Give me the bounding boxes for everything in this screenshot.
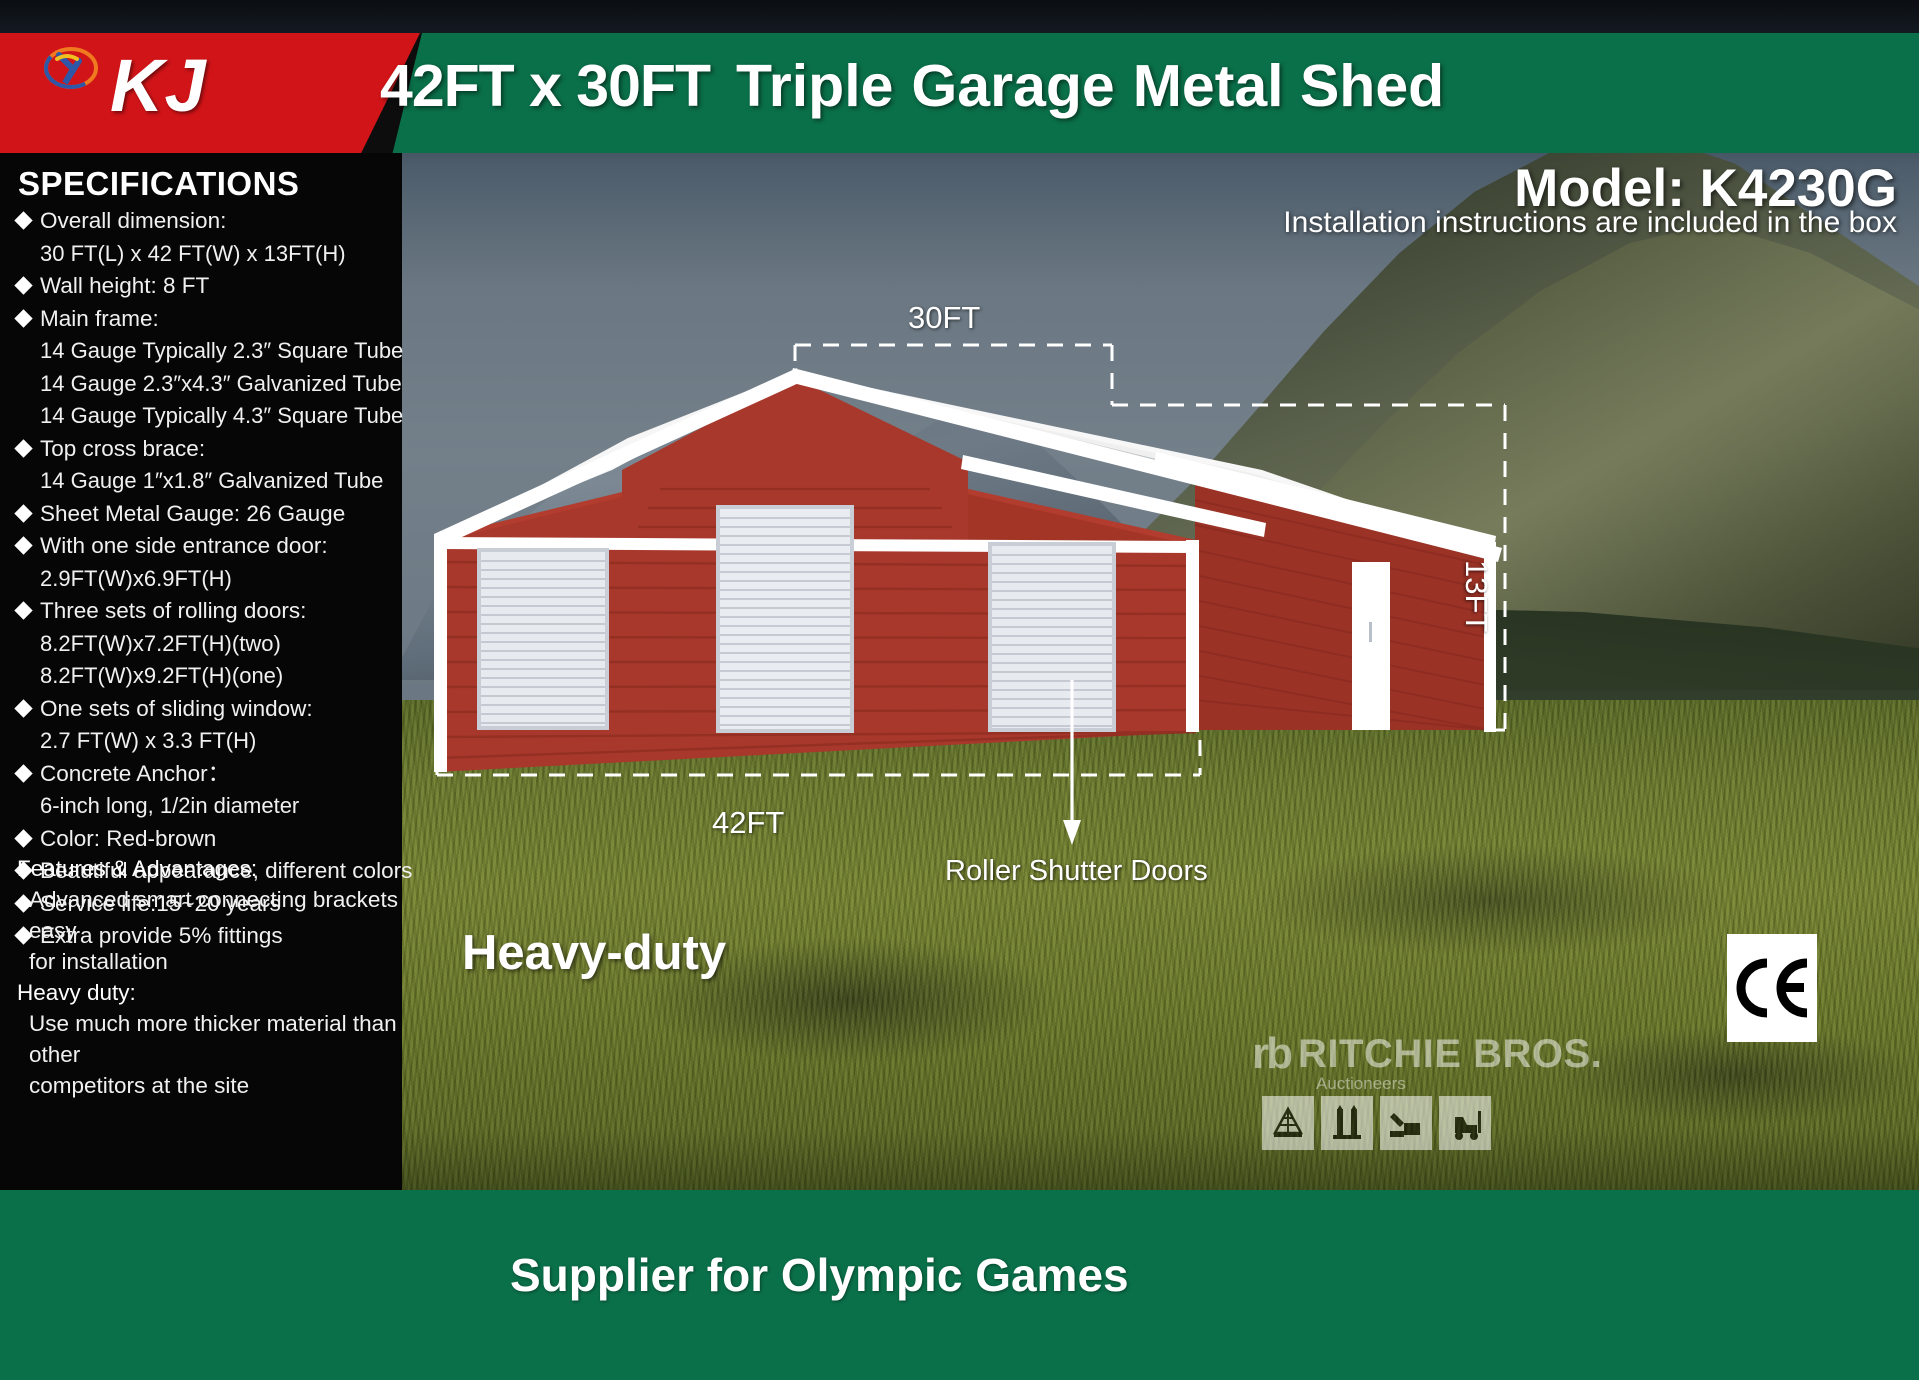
side-entrance-door: [1352, 562, 1390, 730]
diamond-bullet-icon: [14, 699, 32, 717]
spec-item-label: 14 Gauge 1″x1.8″ Galvanized Tube: [40, 465, 383, 498]
spec-item-label: 14 Gauge Typically 2.3″ Square Tube: [40, 335, 403, 368]
spec-item-label: 8.2FT(W)x9.2FT(H)(one): [40, 660, 283, 693]
spec-item-label: Overall dimension:: [40, 205, 226, 238]
spec-item: Main frame:: [0, 303, 402, 336]
watermark-icon-row: [1262, 1096, 1602, 1150]
tower-icon: [1321, 1096, 1373, 1150]
specifications-heading: SPECIFICATIONS: [18, 165, 299, 203]
header-product-word-3: Metal Shed: [1133, 53, 1444, 119]
roller-doors-callout: Roller Shutter Doors: [945, 855, 1208, 888]
spec-item: Sheet Metal Gauge: 26 Gauge: [0, 498, 402, 531]
heavy-duty-body-line-2: competitors at the site: [17, 1070, 402, 1101]
spec-item-label: Top cross brace:: [40, 433, 205, 466]
rolling-door-center: [716, 505, 854, 733]
spec-item: 2.7 FT(W) x 3.3 FT(H): [0, 725, 402, 758]
spec-item: Color: Red-brown: [0, 823, 402, 856]
excavator-icon: [1380, 1096, 1432, 1150]
product-poster: KJ 42FT x 30FTTripleGarageMetal Shed Mod…: [0, 0, 1919, 1380]
watermark-initials: rb: [1252, 1034, 1290, 1074]
spec-item: With one side entrance door:: [0, 530, 402, 563]
heavy-duty-heading: Heavy duty:: [17, 977, 402, 1008]
spec-item-label: One sets of sliding window:: [40, 693, 313, 726]
ritchie-bros-watermark: rb RITCHIE BROS. Auctioneers: [1252, 1030, 1602, 1150]
installation-note: Installation instructions are included i…: [1283, 206, 1897, 240]
spec-item-label: 14 Gauge 2.3″x4.3″ Galvanized Tube: [40, 368, 402, 401]
features-body-line-2: for installation: [17, 946, 402, 977]
forklift-icon: [1439, 1096, 1491, 1150]
spec-item-label: 8.2FT(W)x7.2FT(H)(two): [40, 628, 281, 661]
diamond-bullet-icon: [14, 439, 32, 457]
spec-item-label: 2.9FT(W)x6.9FT(H): [40, 563, 232, 596]
features-block: Features & Advantages: Advanced smart co…: [17, 853, 402, 1101]
rolling-door-left: [477, 548, 609, 730]
specifications-panel: SPECIFICATIONS Overall dimension:30 FT(L…: [0, 153, 402, 1190]
spec-item-label: Three sets of rolling doors:: [40, 595, 306, 628]
dimension-label-depth: 30FT: [908, 300, 980, 336]
spec-item: 8.2FT(W)x7.2FT(H)(two): [0, 628, 402, 661]
spec-item: 14 Gauge 2.3″x4.3″ Galvanized Tube: [0, 368, 402, 401]
diamond-bullet-icon: [14, 211, 32, 229]
dimension-label-height: 13FT: [1458, 560, 1494, 632]
spec-item: Top cross brace:: [0, 433, 402, 466]
kj-swirl-logo-icon: [43, 45, 99, 91]
ce-mark: [1727, 934, 1817, 1042]
spec-item: 30 FT(L) x 42 FT(W) x 13FT(H): [0, 238, 402, 271]
diamond-bullet-icon: [14, 504, 32, 522]
diamond-bullet-icon: [14, 536, 32, 554]
brand-name: KJ: [110, 43, 207, 128]
specifications-list: Overall dimension:30 FT(L) x 42 FT(W) x …: [0, 205, 402, 953]
diamond-bullet-icon: [14, 829, 32, 847]
spec-item: Overall dimension:: [0, 205, 402, 238]
diamond-bullet-icon: [14, 309, 32, 327]
features-heading: Features & Advantages:: [17, 853, 402, 884]
spec-item: 2.9FT(W)x6.9FT(H): [0, 563, 402, 596]
spec-item-label: Main frame:: [40, 303, 159, 336]
header-product-word-1: Triple: [736, 53, 893, 119]
spec-item: Concrete Anchor：: [0, 758, 402, 791]
spec-item: 6-inch long, 1/2in diameter: [0, 790, 402, 823]
heavy-duty-body-line-1: Use much more thicker material than othe…: [17, 1008, 402, 1070]
watermark-subtitle: Auctioneers: [1316, 1074, 1602, 1094]
diamond-bullet-icon: [14, 601, 32, 619]
spec-item-label: 6-inch long, 1/2in diameter: [40, 790, 299, 823]
spec-item: 14 Gauge 1″x1.8″ Galvanized Tube: [0, 465, 402, 498]
building-icon: [1262, 1096, 1314, 1150]
spec-item-label: Concrete Anchor：: [40, 758, 230, 791]
watermark-company: RITCHIE BROS.: [1298, 1032, 1602, 1077]
spec-item-label: 2.7 FT(W) x 3.3 FT(H): [40, 725, 256, 758]
spec-item-label: Sheet Metal Gauge: 26 Gauge: [40, 498, 345, 531]
spec-item-label: Color: Red-brown: [40, 823, 216, 856]
spec-item-label: Wall height: 8 FT: [40, 270, 209, 303]
page-title: 42FT x 30FTTripleGarageMetal Shed: [380, 52, 1880, 120]
diamond-bullet-icon: [14, 764, 32, 782]
heavy-duty-callout: Heavy-duty: [462, 925, 726, 981]
spec-item-label: With one side entrance door:: [40, 530, 328, 563]
spec-item: Wall height: 8 FT: [0, 270, 402, 303]
spec-item: One sets of sliding window:: [0, 693, 402, 726]
ce-logo-icon: [1733, 957, 1811, 1019]
rolling-door-right: [988, 542, 1116, 732]
header-product-word-2: Garage: [911, 53, 1114, 119]
spec-item: 14 Gauge Typically 2.3″ Square Tube: [0, 335, 402, 368]
footer-tagline: Supplier for Olympic Games: [510, 1248, 1129, 1302]
diamond-bullet-icon: [14, 276, 32, 294]
spec-item-label: 14 Gauge Typically 4.3″ Square Tube: [40, 400, 403, 433]
spec-item: Three sets of rolling doors:: [0, 595, 402, 628]
features-body-line-1: Advanced smart connecting brackets easy: [17, 884, 402, 946]
header-dimensions: 42FT x 30FT: [380, 53, 710, 119]
dimension-label-width: 42FT: [712, 805, 784, 841]
spec-item-label: 30 FT(L) x 42 FT(W) x 13FT(H): [40, 238, 346, 271]
spec-item: 14 Gauge Typically 4.3″ Square Tube: [0, 400, 402, 433]
spec-item: 8.2FT(W)x9.2FT(H)(one): [0, 660, 402, 693]
